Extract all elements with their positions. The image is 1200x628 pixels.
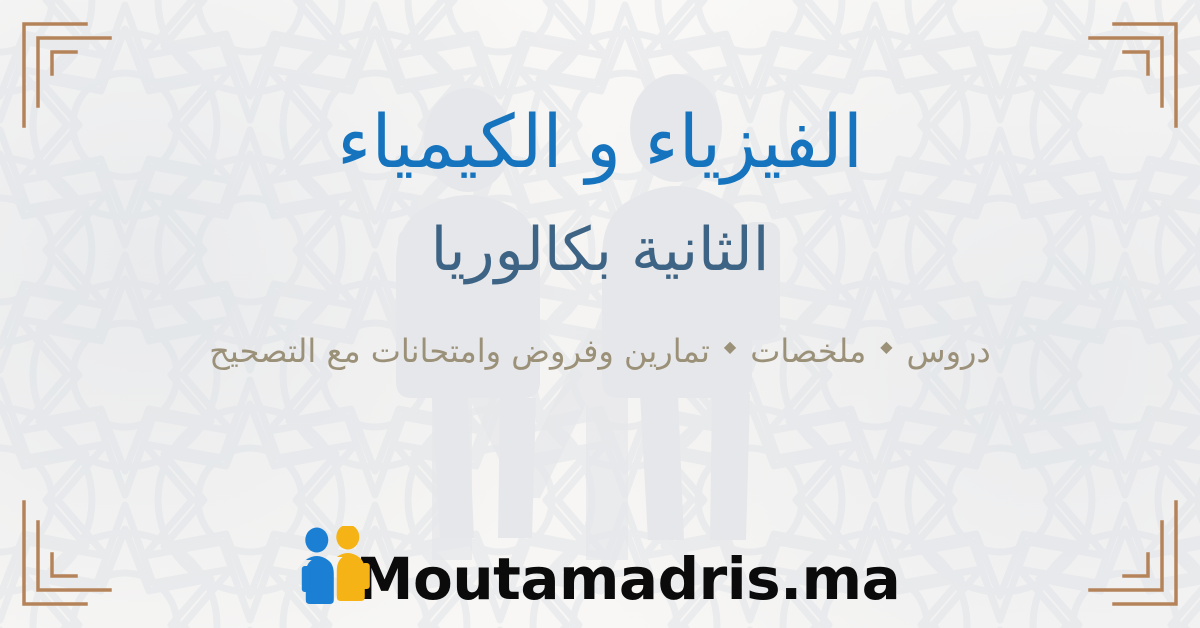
subject-title: الفيزياء و الكيمياء bbox=[337, 104, 863, 183]
level-title: الثانية بكالوريا bbox=[431, 217, 770, 283]
diamond-separator-icon: ◆ bbox=[880, 337, 892, 357]
logo-text: Moutamadris.ma bbox=[356, 550, 900, 612]
tagline-item-exercises-exams: تمارين وفروض وامتحانات مع التصحيح bbox=[209, 331, 710, 371]
diamond-separator-icon: ◆ bbox=[724, 337, 736, 357]
tagline-item-summaries: ملخصات bbox=[750, 331, 866, 371]
promo-banner: الفيزياء و الكيمياء الثانية بكالوريا درو… bbox=[0, 0, 1200, 628]
tagline: دروس ◆ ملخصات ◆ تمارين وفروض وامتحانات م… bbox=[209, 331, 990, 371]
two-students-figures-icon bbox=[300, 526, 374, 612]
site-logo[interactable]: Moutamadris.ma bbox=[300, 526, 900, 612]
tagline-item-lessons: دروس bbox=[907, 331, 991, 371]
